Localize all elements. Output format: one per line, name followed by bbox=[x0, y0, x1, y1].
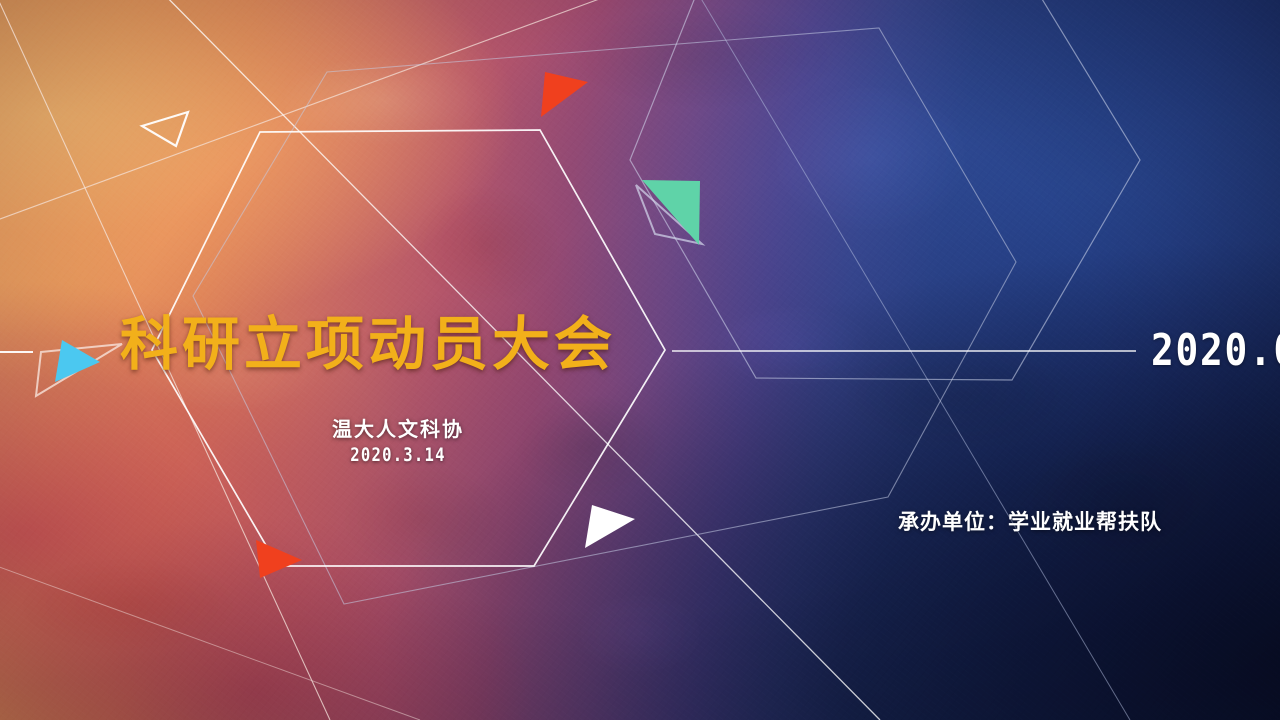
presentation-title-slide: 科研立项动员大会 温大人文科协 2020.3.14 2020.03 承办单位：学… bbox=[0, 0, 1280, 720]
event-date: 2020.03 bbox=[1151, 325, 1280, 376]
triangle-outline-top-left bbox=[142, 112, 188, 146]
hexagon-outline-right bbox=[630, 0, 1140, 380]
triangle-red-top bbox=[541, 72, 588, 117]
triangle-white bbox=[585, 505, 635, 548]
organization-name: 温大人文科协 bbox=[233, 418, 563, 443]
page-title: 科研立项动员大会 bbox=[120, 316, 616, 374]
diagonal-line-e bbox=[690, 0, 1130, 720]
diagonal-line-d bbox=[0, 560, 420, 720]
triangle-teal bbox=[642, 180, 700, 245]
organizer-line: 承办单位：学业就业帮扶队 bbox=[898, 506, 1162, 536]
triangle-red-bottom bbox=[256, 540, 302, 578]
organization-block: 温大人文科协 2020.3.14 bbox=[233, 418, 563, 468]
diagonal-line-b bbox=[0, 0, 760, 230]
subtitle-date: 2020.3.14 bbox=[263, 443, 534, 468]
